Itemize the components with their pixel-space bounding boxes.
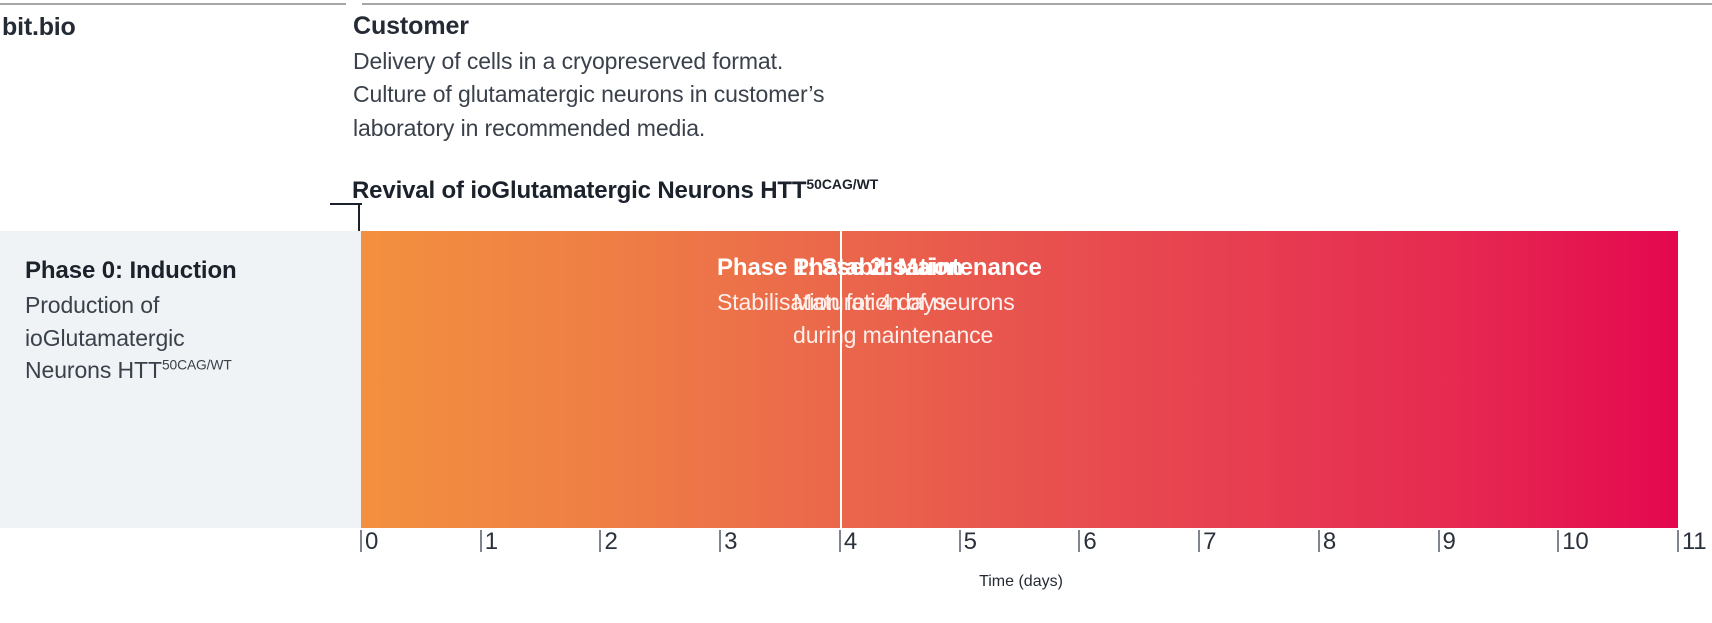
phase-2-content: Phase 2: Maintenance Maturation of neuro… — [793, 253, 1213, 351]
phase-0-desc-line-2: ioGlutamatergic — [25, 322, 325, 355]
axis-tick-label-8: 8 — [1323, 530, 1336, 554]
axis-tick-6 — [1078, 530, 1080, 552]
axis-tick-label-2: 2 — [604, 530, 617, 554]
customer-title: Customer — [353, 11, 973, 41]
axis-tick-3 — [719, 530, 721, 552]
axis-title: Time (days) — [866, 573, 1176, 591]
top-rule-left — [0, 3, 346, 5]
axis-tick-8 — [1318, 530, 1320, 552]
time-axis: 01234567891011 — [0, 528, 1712, 578]
phase-0-desc-line-3: Neurons HTT50CAG/WT — [25, 354, 325, 387]
axis-tick-label-5: 5 — [964, 530, 977, 554]
brand-logo: bit.bio — [2, 13, 76, 42]
revival-callout-label: Revival of ioGlutamatergic Neurons HTT50… — [352, 176, 878, 205]
phase-2-desc-line-2: during maintenance — [793, 319, 1213, 352]
revival-callout-text: Revival of ioGlutamatergic Neurons HTT — [352, 177, 806, 204]
phase-0-title: Phase 0: Induction — [25, 256, 325, 286]
customer-block: Customer Delivery of cells in a cryopres… — [353, 11, 973, 145]
axis-tick-label-1: 1 — [485, 530, 498, 554]
axis-tick-5 — [959, 530, 961, 552]
axis-tick-label-9: 9 — [1443, 530, 1456, 554]
phase-0-desc-superscript: 50CAG/WT — [162, 358, 232, 373]
axis-tick-label-7: 7 — [1203, 530, 1216, 554]
phase-0-desc-line-1: Production of — [25, 289, 325, 322]
axis-tick-label-3: 3 — [724, 530, 737, 554]
phase-0-description: Production of ioGlutamatergic Neurons HT… — [25, 289, 325, 387]
phase-0-content: Phase 0: Induction Production of ioGluta… — [25, 256, 325, 387]
customer-line-1: Delivery of cells in a cryopreserved for… — [353, 45, 973, 78]
phase-boundary-divider — [840, 231, 842, 528]
axis-tick-label-11: 11 — [1682, 530, 1706, 554]
phase-2-title: Phase 2: Maintenance — [793, 253, 1213, 283]
phase-0-panel: Phase 0: Induction Production of ioGluta… — [0, 231, 361, 528]
phase-2-desc-line-1: Maturation of neurons — [793, 286, 1213, 319]
axis-tick-label-4: 4 — [844, 530, 857, 554]
customer-line-2: Culture of glutamatergic neurons in cust… — [353, 78, 973, 111]
axis-tick-1 — [480, 530, 482, 552]
customer-line-3: laboratory in recommended media. — [353, 112, 973, 145]
axis-tick-2 — [599, 530, 601, 552]
axis-tick-4 — [839, 530, 841, 552]
axis-tick-0 — [360, 530, 362, 552]
axis-tick-label-0: 0 — [365, 530, 378, 554]
phase-0-desc-line-3-text: Neurons HTT — [25, 357, 162, 383]
axis-tick-label-6: 6 — [1083, 530, 1096, 554]
axis-tick-9 — [1438, 530, 1440, 552]
axis-tick-11 — [1677, 530, 1679, 552]
revival-callout-superscript: 50CAG/WT — [806, 176, 878, 192]
axis-tick-label-10: 10 — [1562, 530, 1588, 554]
timeline-gradient-bar: Phase 1: Stabilisation Stabilisation for… — [361, 231, 1678, 528]
top-rule-right — [362, 3, 1712, 5]
axis-tick-7 — [1198, 530, 1200, 552]
axis-tick-10 — [1557, 530, 1559, 552]
